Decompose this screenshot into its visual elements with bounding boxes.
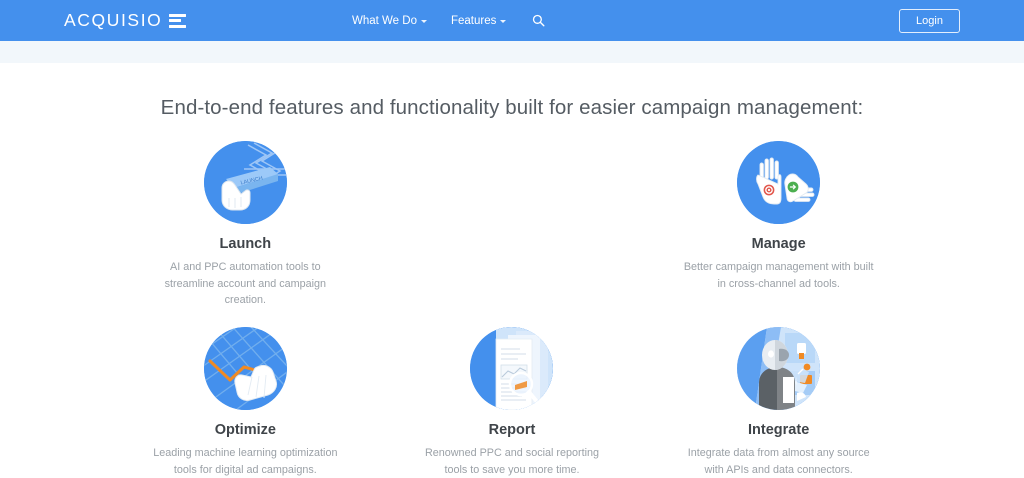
feature-card-integrate: Integrate Integrate data from almost any…: [645, 327, 912, 478]
logo-text: ACQUISIO: [64, 10, 162, 31]
main-content: End-to-end features and functionality bu…: [0, 63, 1024, 478]
feature-title: Manage: [752, 236, 806, 252]
search-icon: [532, 14, 545, 27]
feature-description: Integrate data from almost any source wi…: [681, 445, 877, 478]
feature-description: Renowned PPC and social reporting tools …: [414, 445, 610, 478]
manage-two-hands-icon[interactable]: [737, 141, 820, 224]
main-nav: What We Do Features: [352, 14, 545, 27]
launch-hand-pressing-button-icon[interactable]: LAUNCH: [204, 141, 287, 224]
feature-description: AI and PPC automation tools to streamlin…: [147, 259, 343, 309]
feature-description: Better campaign management with built in…: [681, 259, 877, 292]
login-button[interactable]: Login: [899, 9, 960, 33]
three-bars-icon: [169, 14, 186, 28]
optimize-hand-chart-icon[interactable]: [204, 327, 287, 410]
chevron-down-icon: [421, 20, 427, 23]
nav-item-label: Features: [451, 15, 496, 27]
header-underbar: [0, 41, 1024, 63]
feature-grid: LAUNCH Launch AI and PPC automation tool…: [112, 141, 912, 478]
feature-title: Launch: [220, 236, 272, 252]
integrate-robot-screen-icon[interactable]: [737, 327, 820, 410]
nav-item-label: What We Do: [352, 15, 417, 27]
feature-title: Report: [489, 422, 536, 438]
feature-card-manage: Manage Better campaign management with b…: [645, 141, 912, 309]
nav-item-what-we-do[interactable]: What We Do: [352, 15, 427, 27]
feature-card-report: Report Renowned PPC and social reporting…: [379, 327, 646, 478]
feature-title: Optimize: [215, 422, 276, 438]
feature-title: Integrate: [748, 422, 809, 438]
chevron-down-icon: [500, 20, 506, 23]
search-button[interactable]: [532, 14, 545, 27]
nav-item-features[interactable]: Features: [451, 15, 506, 27]
page-title: End-to-end features and functionality bu…: [0, 96, 1024, 120]
report-documents-magnifier-icon[interactable]: [470, 327, 553, 410]
feature-card-launch: LAUNCH Launch AI and PPC automation tool…: [112, 141, 379, 309]
logo[interactable]: ACQUISIO: [64, 10, 186, 31]
site-header: ACQUISIO What We Do Features Login: [0, 0, 1024, 41]
feature-card-optimize: Optimize Leading machine learning optimi…: [112, 327, 379, 478]
feature-description: Leading machine learning optimization to…: [147, 445, 343, 478]
